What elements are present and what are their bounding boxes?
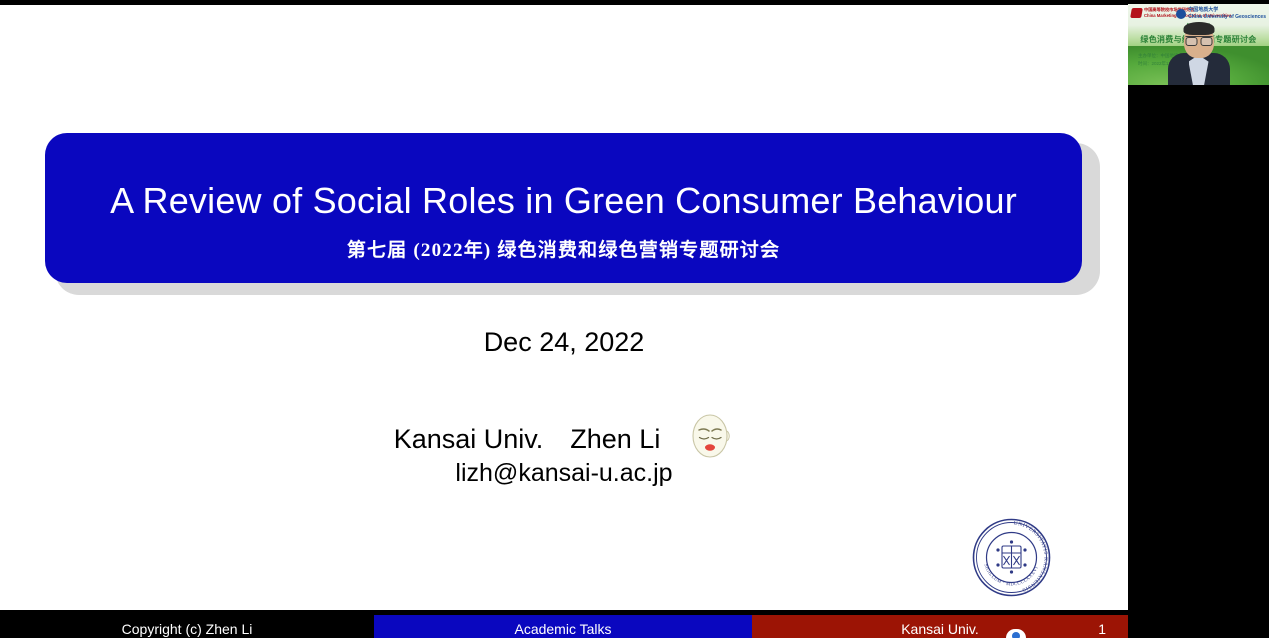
cug-logo-line1: 中国地质大学	[1188, 7, 1218, 13]
presenter-figure	[1168, 23, 1230, 85]
kansai-university-seal-icon: UNIVERSITATIS KANSAIENSIS SIGILLUM · MDC…	[969, 515, 1054, 600]
slide-page-number: 1	[1098, 621, 1106, 637]
status-copyright: Copyright (c) Zhen Li	[0, 615, 374, 638]
slide-title: A Review of Social Roles in Green Consum…	[110, 180, 1017, 221]
presentation-date: Dec 24, 2022	[0, 327, 1128, 358]
status-academic-talks: Academic Talks	[374, 615, 752, 638]
presenter-hair	[1183, 22, 1214, 35]
cartoon-face-icon	[686, 411, 734, 461]
slide-status-bar: Copyright (c) Zhen Li Academic Talks Kan…	[0, 615, 1128, 638]
author-affiliation-name: Kansai Univ. Zhen Li	[394, 417, 661, 456]
cug-logo-line2: China University of Geosciences	[1188, 14, 1266, 20]
cug-logo-mark	[1176, 9, 1186, 19]
status-affiliation-label: Kansai Univ.	[901, 621, 979, 637]
author-email: lizh@kansai-u.ac.jp	[0, 459, 1128, 488]
slide-subtitle-chinese: 第七届 (2022年) 绿色消费和绿色营销专题研讨会	[347, 235, 780, 262]
presenter-webcam-feed[interactable]: 第七届 绿色消费与绿色营销专题研讨会 主办单位：中国地质大学 时间：2022年1…	[1128, 4, 1269, 85]
title-banner: A Review of Social Roles in Green Consum…	[45, 133, 1082, 283]
status-affiliation-segment: Kansai Univ. 1	[752, 615, 1128, 638]
presenter-glasses-icon	[1185, 36, 1212, 43]
pointer-nub-indicator[interactable]	[1006, 629, 1026, 638]
cmau-logo-mark	[1130, 8, 1143, 18]
cug-logo-icon: 中国地质大学 China University of Geosciences	[1176, 7, 1266, 20]
cug-logo-text: 中国地质大学 China University of Geosciences	[1188, 7, 1266, 20]
presentation-slide[interactable]: A Review of Social Roles in Green Consum…	[0, 5, 1128, 610]
author-row: Kansai Univ. Zhen Li	[0, 411, 1128, 461]
webcam-area-filler	[1128, 85, 1269, 638]
screen-root: A Review of Social Roles in Green Consum…	[0, 0, 1269, 638]
